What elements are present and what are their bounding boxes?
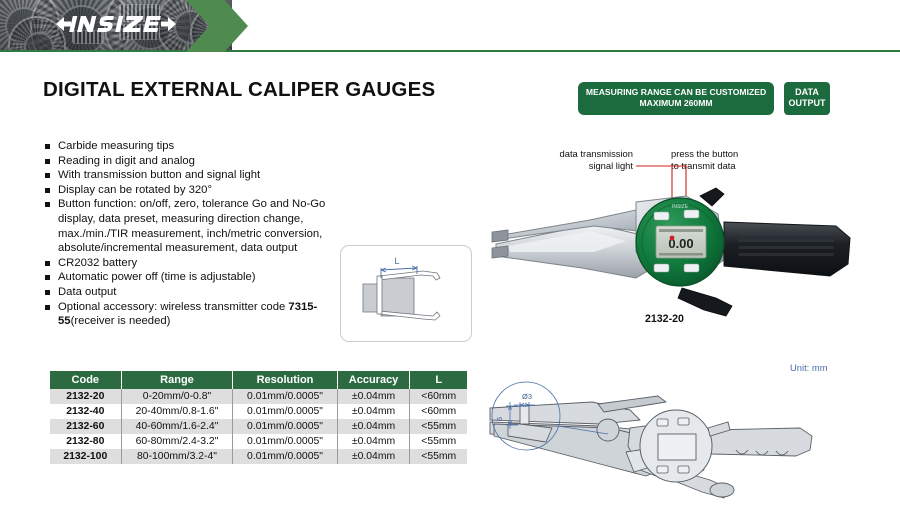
button-transmit[interactable] xyxy=(684,210,699,218)
carbide-tip-lower xyxy=(492,246,508,258)
cell-accuracy: ±0.04mm xyxy=(337,419,410,434)
cell-resolution: 0.01mm/0.0005" xyxy=(233,449,337,464)
l-label: L xyxy=(394,256,399,266)
cell-range: 0-20mm/0-0.8" xyxy=(121,389,233,404)
list-item: Reading in digit and analog xyxy=(44,154,334,169)
column-header-code: Code xyxy=(50,371,121,389)
badge-range-line1: MEASURING RANGE CAN BE CUSTOMIZED xyxy=(586,87,766,97)
cell-resolution: 0.01mm/0.0005" xyxy=(233,434,337,449)
rotation-lever xyxy=(700,188,724,206)
feature-text: CR2032 battery xyxy=(58,257,137,269)
top-banner xyxy=(0,0,900,52)
table-row: 2132-60 40-60mm/1.6-2.4" 0.01mm/0.0005" … xyxy=(50,419,467,434)
cell-resolution: 0.01mm/0.0005" xyxy=(233,389,337,404)
cell-accuracy: ±0.04mm xyxy=(337,404,410,419)
cell-accuracy: ±0.04mm xyxy=(337,434,410,449)
carbide-tip-upper xyxy=(492,230,508,242)
detail-diameter-label: Ø3 xyxy=(522,392,532,401)
unit-label: Unit: mm xyxy=(790,362,828,373)
cell-accuracy: ±0.04mm xyxy=(337,389,410,404)
button-bottom-right[interactable] xyxy=(684,264,699,272)
button-top-left[interactable] xyxy=(654,212,669,220)
signal-light-indicator xyxy=(670,236,675,241)
list-item: Display can be rotated by 320° xyxy=(44,183,334,198)
cell-code: 2132-100 xyxy=(50,449,121,464)
list-item: With transmission button and signal ligh… xyxy=(44,168,334,183)
column-header-l: L xyxy=(410,371,467,389)
feature-text: Data output xyxy=(58,286,116,298)
feature-text: Automatic power off (time is adjustable) xyxy=(58,271,256,283)
table-row: 2132-40 20-40mm/0.8-1.6" 0.01mm/0.0005" … xyxy=(50,404,467,419)
list-item: CR2032 battery xyxy=(44,256,334,271)
column-header-accuracy: Accuracy xyxy=(337,371,410,389)
cell-range: 80-100mm/3.2-4" xyxy=(121,449,233,464)
cell-code: 2132-20 xyxy=(50,389,121,404)
cell-l: <60mm xyxy=(410,389,467,404)
product-photo: data transmission signal light press the… xyxy=(486,140,896,340)
cell-l: <55mm xyxy=(410,419,467,434)
bezel-brand-mark: INSIZE xyxy=(672,204,689,210)
product-caption: 2132-20 xyxy=(645,313,684,325)
cell-code: 2132-80 xyxy=(50,434,121,449)
feature-text-tail: (receiver is needed) xyxy=(71,315,171,327)
drawing-handle xyxy=(710,428,812,456)
drawing-pivot-screw xyxy=(597,419,619,441)
cell-code: 2132-60 xyxy=(50,419,121,434)
table-row: 2132-80 60-80mm/2.4-3.2" 0.01mm/0.0005" … xyxy=(50,434,467,449)
cell-range: 40-60mm/1.6-2.4" xyxy=(121,419,233,434)
button-bottom-left[interactable] xyxy=(654,264,669,272)
feature-text: Button function: on/off, zero, tolerance… xyxy=(58,198,325,254)
feature-text: With transmission button and signal ligh… xyxy=(58,169,260,181)
cell-range: 20-40mm/0.8-1.6" xyxy=(121,404,233,419)
drawing-lcd xyxy=(658,434,696,460)
cell-resolution: 0.01mm/0.0005" xyxy=(233,419,337,434)
data-output-badge: DATA OUTPUT xyxy=(784,82,830,115)
list-item: Carbide measuring tips xyxy=(44,139,334,154)
badge-data-line2: OUTPUT xyxy=(789,98,826,108)
technical-drawing: Ø3 6 xyxy=(480,378,900,510)
measuring-range-badge: MEASURING RANGE CAN BE CUSTOMIZED MAXIMU… xyxy=(578,82,774,115)
cell-accuracy: ±0.04mm xyxy=(337,449,410,464)
cell-l: <55mm xyxy=(410,449,467,464)
cell-l: <55mm xyxy=(410,434,467,449)
specification-table: Code Range Resolution Accuracy L 2132-20… xyxy=(50,371,467,464)
list-item: Automatic power off (time is adjustable) xyxy=(44,270,334,285)
drawing-rack xyxy=(598,396,666,412)
feature-text: Display can be rotated by 320° xyxy=(58,184,212,196)
table-header-row: Code Range Resolution Accuracy L xyxy=(50,371,467,389)
cell-range: 60-80mm/2.4-3.2" xyxy=(121,434,233,449)
detail-height-label: 6 xyxy=(495,417,504,421)
insize-logo xyxy=(56,11,176,37)
cell-l: <60mm xyxy=(410,404,467,419)
feature-text: Reading in digit and analog xyxy=(58,155,195,167)
badge-data-line1: DATA xyxy=(795,87,819,97)
page-title: DIGITAL EXTERNAL CALIPER GAUGES xyxy=(43,78,435,102)
detail-pin xyxy=(520,406,529,424)
feature-text: Optional accessory: wireless transmitter… xyxy=(58,301,288,313)
l-dimension-diagram: L xyxy=(340,245,472,342)
feature-list: Carbide measuring tips Reading in digit … xyxy=(44,139,334,329)
list-item: Data output xyxy=(44,285,334,300)
green-divider-rule xyxy=(0,50,900,52)
list-item: Optional accessory: wireless transmitter… xyxy=(44,300,334,329)
column-header-resolution: Resolution xyxy=(233,371,337,389)
table-row: 2132-100 80-100mm/3.2-4" 0.01mm/0.0005" … xyxy=(50,449,467,464)
cell-resolution: 0.01mm/0.0005" xyxy=(233,404,337,419)
table-row: 2132-20 0-20mm/0-0.8" 0.01mm/0.0005" ±0.… xyxy=(50,389,467,404)
column-header-range: Range xyxy=(121,371,233,389)
release-lever xyxy=(678,288,732,316)
cell-code: 2132-40 xyxy=(50,404,121,419)
badge-range-line2: MAXIMUM 260MM xyxy=(639,98,712,108)
list-item: Button function: on/off, zero, tolerance… xyxy=(44,197,334,255)
feature-text: Carbide measuring tips xyxy=(58,140,174,152)
